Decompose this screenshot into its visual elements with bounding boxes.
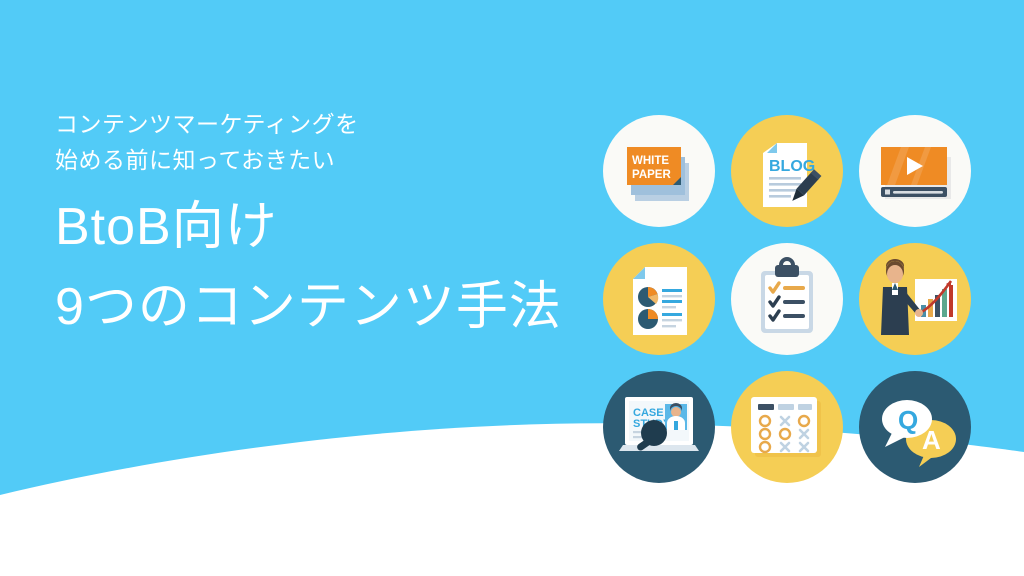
case-study-icon: CASE STUDY (603, 371, 715, 483)
report-chart-icon (603, 243, 715, 355)
headline-block: コンテンツマーケティングを 始める前に知っておきたい BtoB向け 9つのコンテ… (55, 106, 595, 338)
subtitle-line-1: コンテンツマーケティングを (55, 106, 595, 142)
subtitle-line-2: 始める前に知っておきたい (55, 142, 595, 178)
content-method-icon-grid: WHITE PAPER BLOG (603, 115, 971, 483)
blog-icon: BLOG (731, 115, 843, 227)
video-player-icon (859, 115, 971, 227)
white-paper-label-line2: PAPER (632, 169, 671, 181)
qa-speech-bubble-icon: A Q (859, 371, 971, 483)
checklist-clipboard-icon (731, 243, 843, 355)
title-line-2: 9つのコンテンツ手法 (55, 276, 595, 338)
blog-label: BLOG (769, 158, 815, 175)
comparison-table-icon (731, 371, 843, 483)
white-paper-icon: WHITE PAPER (603, 115, 715, 227)
title-line-1: BtoB向け (55, 196, 595, 258)
qa-question-letter: Q (898, 405, 918, 435)
slide-canvas: コンテンツマーケティングを 始める前に知っておきたい BtoB向け 9つのコンテ… (0, 0, 1024, 576)
white-paper-label-line1: WHITE (632, 155, 669, 167)
presenter-seminar-icon (859, 243, 971, 355)
